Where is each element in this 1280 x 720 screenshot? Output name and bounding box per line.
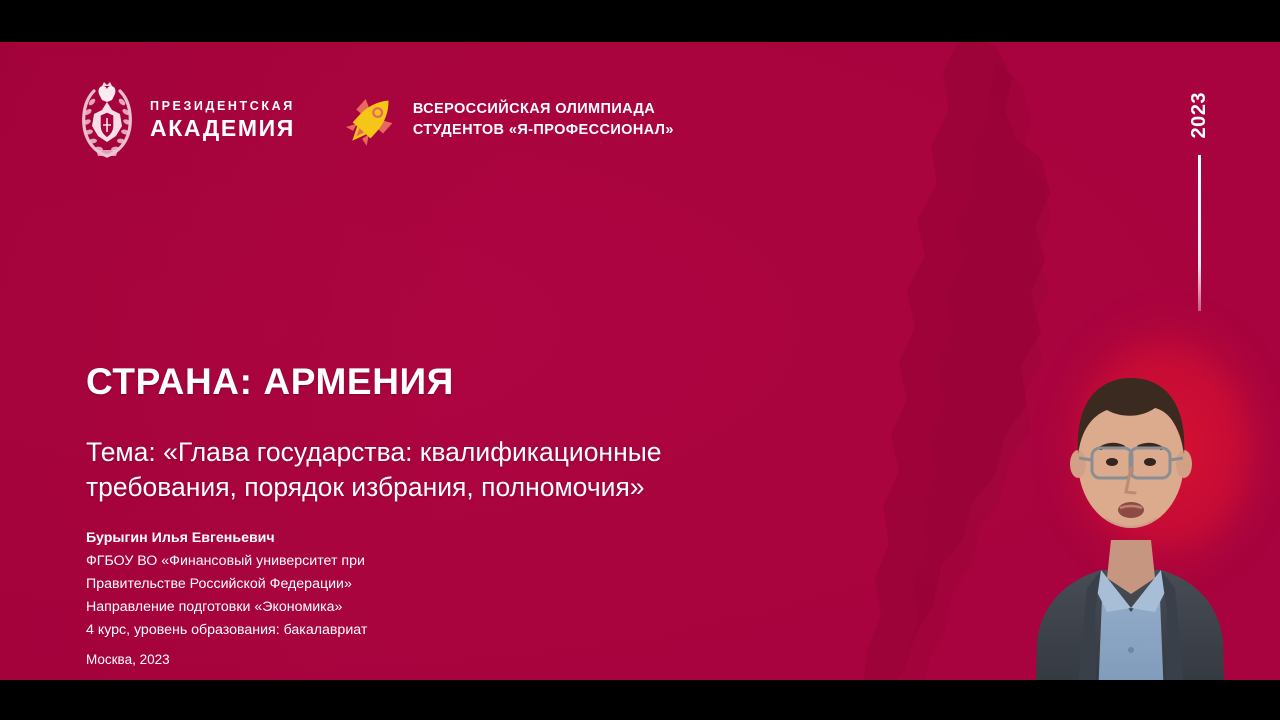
rocket-icon (343, 92, 399, 148)
olympiad-logo-lockup: ВСЕРОССИЙСКАЯ ОЛИМПИАДА СТУДЕНТОВ «Я-ПРО… (343, 92, 674, 148)
olympiad-wordmark-line1: ВСЕРОССИЙСКАЯ ОЛИМПИАДА (413, 99, 674, 120)
slide-header: ПРЕЗИДЕНТСКАЯ АКАДЕМИЯ (78, 80, 674, 160)
slide-canvas: ПРЕЗИДЕНТСКАЯ АКАДЕМИЯ (0, 42, 1280, 680)
presidential-academy-emblem-icon (78, 80, 136, 160)
author-program: Направление подготовки «Экономика» (86, 596, 806, 619)
letterbox-bottom (0, 680, 1280, 720)
olympiad-wordmark-line2: СТУДЕНТОВ «Я-ПРОФЕССИОНАЛ» (413, 120, 674, 141)
year-label: 2023 (1189, 92, 1209, 139)
slide-content: СТРАНА: АРМЕНИЯ Тема: «Глава государства… (86, 362, 806, 642)
author-block: Бурыгин Илья Евгеньевич ФГБОУ ВО «Финанс… (86, 527, 806, 642)
academy-wordmark: ПРЕЗИДЕНТСКАЯ АКАДЕМИЯ (150, 100, 295, 141)
author-name: Бурыгин Илья Евгеньевич (86, 527, 806, 550)
olympiad-wordmark: ВСЕРОССИЙСКАЯ ОЛИМПИАДА СТУДЕНТОВ «Я-ПРО… (413, 99, 674, 140)
slide-stage: ПРЕЗИДЕНТСКАЯ АКАДЕМИЯ (0, 0, 1280, 720)
presenter-glow (1040, 297, 1280, 597)
letterbox-top (0, 0, 1280, 42)
year-rule-line (1198, 155, 1201, 311)
year-marker: 2023 (1176, 92, 1222, 311)
author-affiliation-line2: Правительстве Российской Федерации» (86, 573, 806, 596)
map-silhouette-watermark (845, 42, 1095, 680)
academy-wordmark-line1: ПРЕЗИДЕНТСКАЯ (150, 100, 295, 113)
author-year-level: 4 курс, уровень образования: бакалавриат (86, 619, 806, 642)
city-year-label: Москва, 2023 (86, 652, 170, 667)
topic-text: Тема: «Глава государства: квалификационн… (86, 435, 766, 505)
author-affiliation-line1: ФГБОУ ВО «Финансовый университет при (86, 550, 806, 573)
presenter-video-figure (975, 312, 1280, 680)
academy-logo-lockup: ПРЕЗИДЕНТСКАЯ АКАДЕМИЯ (78, 80, 295, 160)
academy-wordmark-line2: АКАДЕМИЯ (150, 117, 295, 140)
page-title: СТРАНА: АРМЕНИЯ (86, 362, 806, 403)
